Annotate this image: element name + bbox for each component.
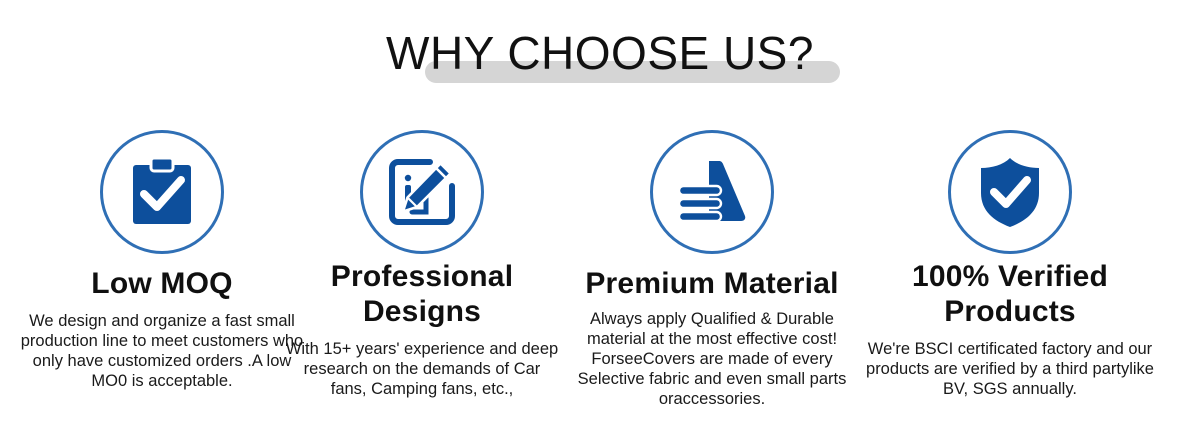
shield-check-icon: [948, 130, 1072, 254]
feature-description: Always apply Qualified & Durable materia…: [562, 309, 862, 409]
feature-description: With 15+ years' experience and deep rese…: [283, 339, 561, 399]
banner-title-area: WHY CHOOSE US?: [0, 22, 1200, 92]
material-layers-icon: [650, 130, 774, 254]
feature-title: Professional Designs: [283, 259, 561, 329]
feature-card-premium-material: Premium Material Always apply Qualified …: [562, 130, 862, 409]
feature-description: We design and organize a fast small prod…: [12, 311, 312, 391]
feature-columns: Low MOQ We design and organize a fast sm…: [0, 130, 1200, 430]
why-choose-us-banner: WHY CHOOSE US? Low MOQ We design and org…: [0, 0, 1200, 431]
feature-title: 100% Verified Products: [860, 259, 1160, 329]
feature-card-professional-designs: Professional Designs With 15+ years' exp…: [283, 130, 561, 399]
feature-card-low-moq: Low MOQ We design and organize a fast sm…: [12, 130, 312, 391]
design-pencil-icon: [360, 130, 484, 254]
feature-card-verified-products: 100% Verified Products We're BSCI certif…: [860, 130, 1160, 399]
feature-title: Low MOQ: [12, 266, 312, 301]
page-title: WHY CHOOSE US?: [386, 22, 814, 84]
clipboard-check-icon: [100, 130, 224, 254]
feature-title: Premium Material: [562, 266, 862, 301]
feature-description: We're BSCI certificated factory and our …: [860, 339, 1160, 399]
